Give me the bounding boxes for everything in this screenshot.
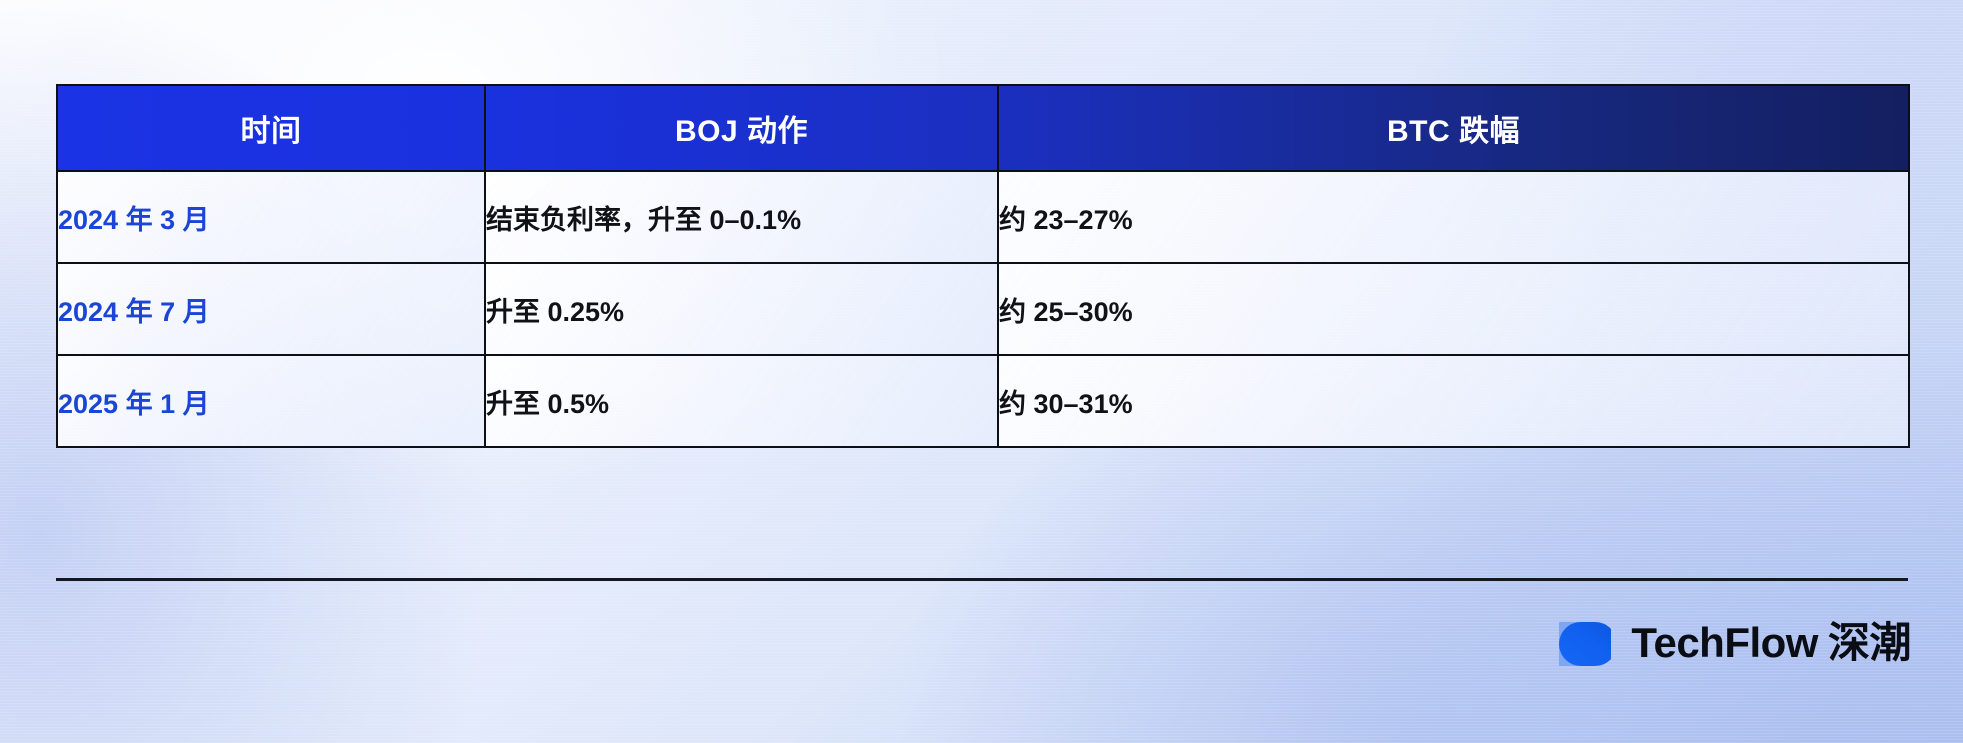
cell-time: 2024 年 3 月 bbox=[57, 171, 485, 263]
cell-boj-action: 升至 0.5% bbox=[485, 355, 998, 447]
cell-time: 2025 年 1 月 bbox=[57, 355, 485, 447]
column-header-boj-action-label: BOJ 动作 bbox=[675, 106, 808, 150]
table-row: 2024 年 3 月 结束负利率，升至 0–0.1% 约 23–27% bbox=[57, 171, 1909, 263]
cell-btc-drop: 约 30–31% bbox=[998, 355, 1909, 447]
brand-wordmark: TechFlow深潮 bbox=[1631, 622, 1911, 664]
brand-name-en: TechFlow bbox=[1631, 619, 1818, 666]
page-content: 时间 BOJ 动作 BTC 跌幅 2024 年 3 月 结束负利率，升至 0–0… bbox=[0, 0, 1963, 743]
table-row: 2025 年 1 月 升至 0.5% 约 30–31% bbox=[57, 355, 1909, 447]
column-header-btc-drop-label: BTC 跌幅 bbox=[1387, 106, 1520, 150]
brand-logo: TechFlow深潮 bbox=[1559, 620, 1911, 666]
boj-btc-comparison-table: 时间 BOJ 动作 BTC 跌幅 2024 年 3 月 结束负利率，升至 0–0… bbox=[56, 84, 1910, 448]
cell-time: 2024 年 7 月 bbox=[57, 263, 485, 355]
techflow-leaf-icon bbox=[1559, 620, 1611, 666]
cell-btc-drop: 约 23–27% bbox=[998, 171, 1909, 263]
table-header-row: 时间 BOJ 动作 BTC 跌幅 bbox=[57, 85, 1909, 171]
table-row: 2024 年 7 月 升至 0.25% 约 25–30% bbox=[57, 263, 1909, 355]
table-header: 时间 BOJ 动作 BTC 跌幅 bbox=[57, 85, 1909, 171]
cell-boj-action: 升至 0.25% bbox=[485, 263, 998, 355]
cell-btc-drop: 约 25–30% bbox=[998, 263, 1909, 355]
column-header-btc-drop: BTC 跌幅 bbox=[998, 85, 1909, 171]
table-body: 2024 年 3 月 结束负利率，升至 0–0.1% 约 23–27% 2024… bbox=[57, 171, 1909, 447]
column-header-time-label: 时间 bbox=[241, 106, 302, 150]
column-header-time: 时间 bbox=[57, 85, 485, 171]
cell-boj-action: 结束负利率，升至 0–0.1% bbox=[485, 171, 998, 263]
brand-name-cn: 深潮 bbox=[1828, 619, 1911, 666]
footer-divider bbox=[56, 578, 1908, 581]
column-header-boj-action: BOJ 动作 bbox=[485, 85, 998, 171]
